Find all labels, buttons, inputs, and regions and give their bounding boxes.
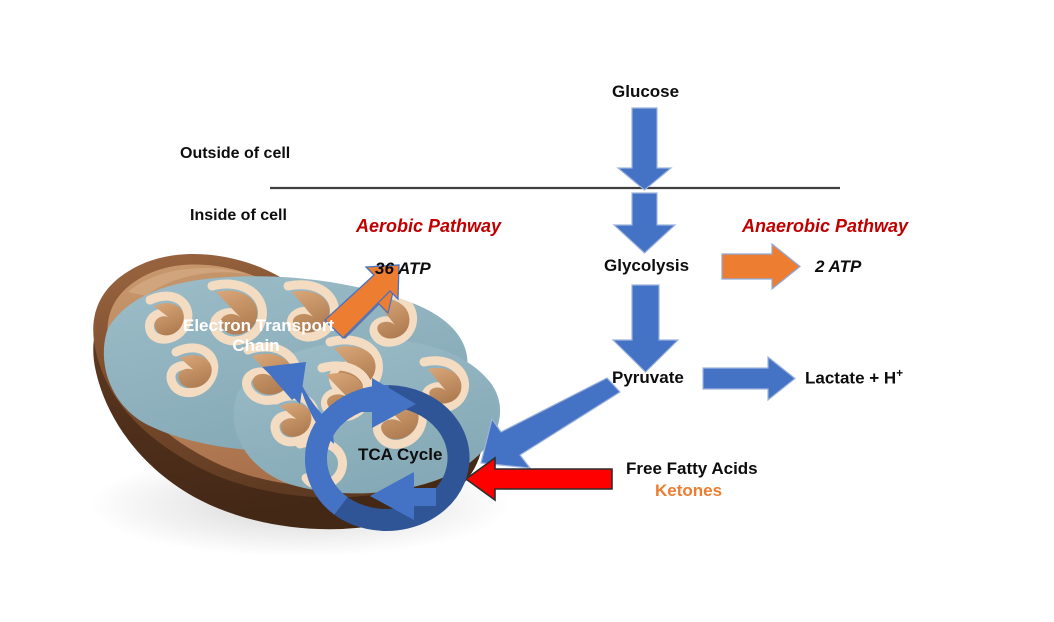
arrow-glycolysis-to-pyruvate [613,285,678,372]
diagram-canvas: Glucose Outside of cell Inside of cell A… [0,0,1054,622]
arrow-glucose-to-membrane [618,108,671,190]
arrow-anaerobic-atp [722,244,800,289]
label-pyruvate: Pyruvate [612,368,684,388]
label-tca-cycle: TCA Cycle [358,445,442,465]
etc-line-2: Chain [183,336,329,356]
label-lactate-text: Lactate + H [805,369,896,388]
label-outside-of-cell: Outside of cell [180,145,290,163]
label-electron-transport-chain: Electron Transport Chain [183,316,329,355]
label-free-fatty-acids: Free Fatty Acids [626,459,758,479]
label-lactate: Lactate + H+ [805,368,903,388]
label-anaerobic-pathway: Anaerobic Pathway [742,216,908,237]
arrow-pyruvate-to-mitochondrion [481,378,620,468]
diagram-graphics [0,0,1054,622]
label-anaerobic-atp-yield: 2 ATP [815,257,861,277]
arrow-pyruvate-to-lactate [703,357,795,400]
etc-line-1: Electron Transport [183,316,329,336]
label-lactate-superscript: + [896,368,903,380]
label-glycolysis: Glycolysis [604,256,689,276]
label-ketones: Ketones [655,481,722,501]
arrow-membrane-to-glycolysis [614,193,675,253]
label-aerobic-atp-yield: 36 ATP [375,259,431,279]
label-inside-of-cell: Inside of cell [190,207,287,225]
label-glucose: Glucose [612,82,679,102]
label-aerobic-pathway: Aerobic Pathway [356,216,501,237]
arrow-fatty-acids-to-tca [466,458,612,500]
